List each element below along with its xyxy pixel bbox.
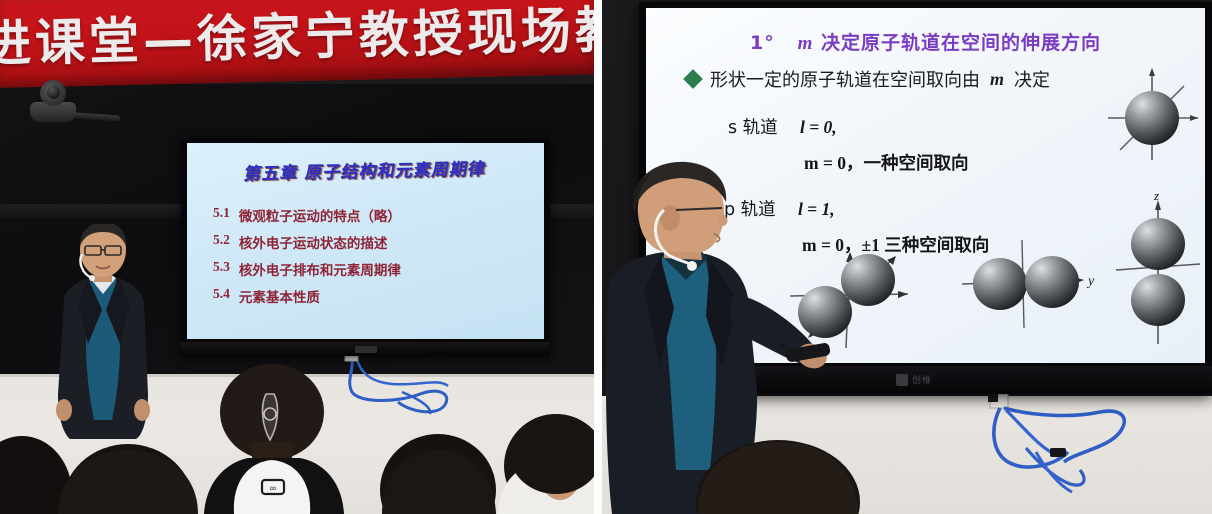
svg-text:∞: ∞ bbox=[270, 483, 276, 493]
line-s-orbital-left: s 轨道 l = 0, bbox=[728, 114, 837, 139]
screenshot-stage: 进课堂—徐家宁教授现场教学观 第五章 原子结构和元素周期律 5.1 bbox=[0, 0, 1212, 514]
left-slide-title: 第五章 原子结构和元素周期律 bbox=[187, 153, 544, 185]
laser-pointer bbox=[780, 332, 850, 372]
py-orbital-diagram: y bbox=[956, 236, 1106, 332]
title-prefix: 1° bbox=[750, 32, 775, 54]
right-photo-panel: 1° m 决定原子轨道在空间的伸展方向 形状一定的原子轨道在空间取向由 m 决定… bbox=[602, 0, 1212, 514]
bullet-text-before: 形状一定的原子轨道在空间取向由 bbox=[710, 66, 980, 92]
item-number: 5.4 bbox=[213, 286, 230, 306]
audience-right bbox=[602, 384, 1212, 514]
left-photo-panel: 进课堂—徐家宁教授现场教学观 第五章 原子结构和元素周期律 5.1 bbox=[0, 0, 594, 514]
camera-lens bbox=[47, 86, 60, 99]
panel-divider bbox=[594, 0, 602, 514]
left-display-screen: 第五章 原子结构和元素周期律 5.1 微观粒子运动的特点（略） 5.2 核外电子… bbox=[181, 138, 550, 356]
item-text: 微观粒子运动的特点（略） bbox=[239, 205, 401, 225]
item-text: 核外电子排布和元素周期律 bbox=[239, 259, 401, 279]
item-number: 5.1 bbox=[213, 205, 230, 225]
title-symbol: m bbox=[798, 33, 814, 54]
right-slide-title: 1° m 决定原子轨道在空间的伸展方向 bbox=[646, 28, 1205, 55]
list-item: 5.1 微观粒子运动的特点（略） bbox=[213, 205, 533, 225]
banner-text: 进课堂—徐家宁教授现场教学观 bbox=[0, 0, 594, 74]
s-orbital-diagram bbox=[1104, 64, 1200, 168]
line-s-orbital-m: m = 0，一种空间取向 bbox=[804, 150, 969, 175]
item-text: 核外电子运动状态的描述 bbox=[239, 232, 388, 252]
axis-label-y: y bbox=[1086, 274, 1095, 289]
axis-label-z: z bbox=[1153, 188, 1159, 203]
list-item: 5.3 核外电子排布和元素周期律 bbox=[213, 259, 533, 279]
line-label: s 轨道 bbox=[728, 118, 778, 138]
audience-left: ∞ bbox=[0, 354, 594, 514]
red-banner: 进课堂—徐家宁教授现场教学观 bbox=[0, 0, 594, 88]
pz-orbital-diagram: z bbox=[1114, 188, 1202, 348]
left-slide-surface: 第五章 原子结构和元素周期律 5.1 微观粒子运动的特点（略） 5.2 核外电子… bbox=[187, 143, 544, 339]
item-number: 5.3 bbox=[213, 259, 230, 279]
item-text: 元素基本性质 bbox=[239, 286, 320, 306]
line-equation: l = 0, bbox=[800, 117, 837, 137]
list-item: 5.4 元素基本性质 bbox=[213, 286, 533, 306]
list-item: 5.2 核外电子运动状态的描述 bbox=[213, 232, 533, 252]
bullet-symbol: m bbox=[990, 69, 1004, 90]
right-slide-bullet: 形状一定的原子轨道在空间取向由 m 决定 bbox=[686, 66, 1050, 92]
diamond-bullet-icon bbox=[683, 69, 703, 89]
left-slide-list: 5.1 微观粒子运动的特点（略） 5.2 核外电子运动状态的描述 5.3 核外电… bbox=[213, 205, 533, 313]
title-text: 决定原子轨道在空间的伸展方向 bbox=[821, 32, 1101, 54]
tv-brand-logo bbox=[355, 346, 377, 353]
item-number: 5.2 bbox=[213, 232, 230, 252]
bullet-text-after: 决定 bbox=[1014, 66, 1050, 92]
ptz-camera-icon bbox=[24, 92, 82, 122]
line-equation: m = 0，一种空间取向 bbox=[804, 153, 969, 173]
